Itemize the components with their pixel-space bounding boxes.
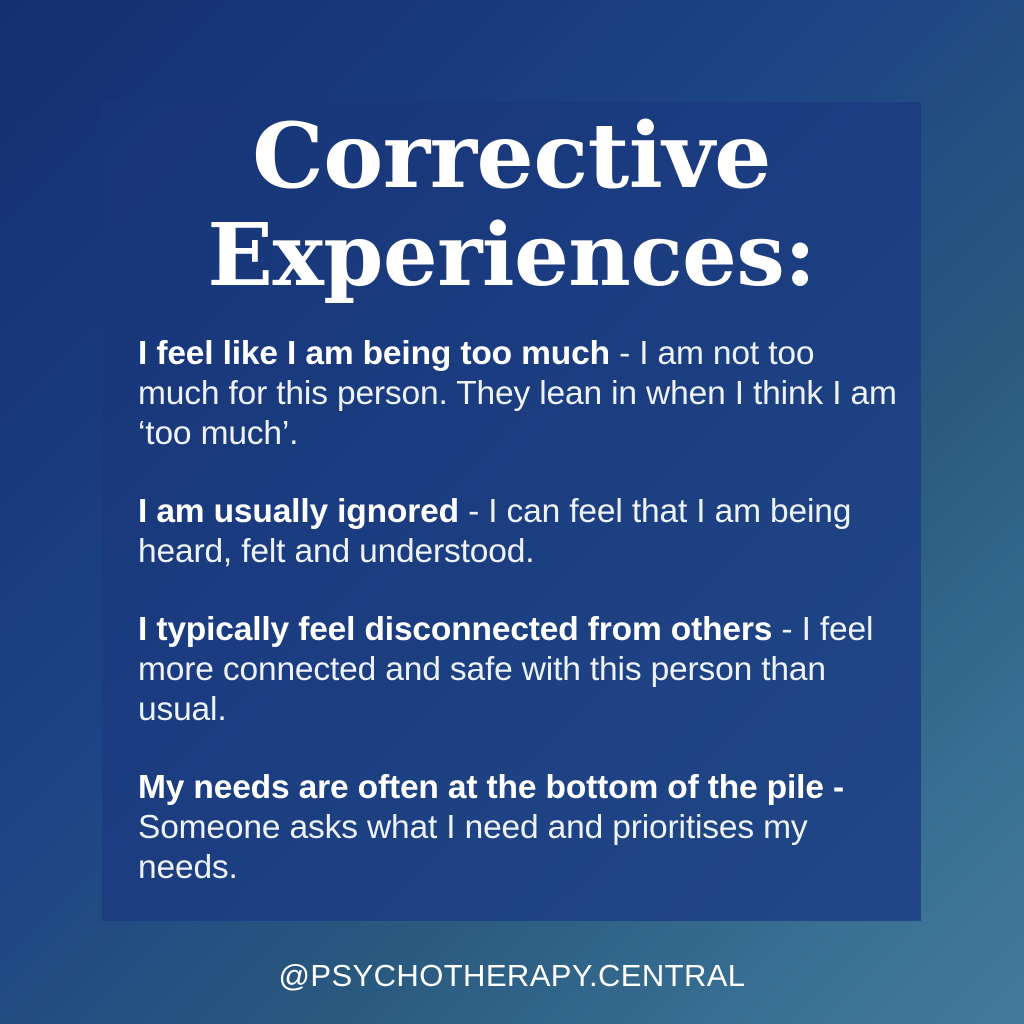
entry-item-1: I feel like I am being too much - I am n… [138, 334, 898, 454]
content-card: Corrective Experiences: I feel like I am… [102, 102, 921, 921]
account-handle: @PSYCHOTHERAPY.CENTRAL [0, 956, 1024, 996]
poster-canvas: Corrective Experiences: I feel like I am… [0, 0, 1024, 1024]
entry-rest-4: Someone asks what I need and prioritises… [138, 809, 807, 886]
entry-lead-1: I feel like I am being too much [138, 335, 610, 372]
entry-lead-2: I am usually ignored [138, 493, 459, 530]
entry-lead-4: My needs are often at the bottom of the … [138, 769, 844, 806]
title-line-1: Corrective [128, 106, 895, 206]
entry-item-3: I typically feel disconnected from other… [138, 610, 898, 730]
entry-lead-3: I typically feel disconnected from other… [138, 611, 772, 648]
title-line-2: Experiences: [128, 206, 895, 306]
entry-item-4: My needs are often at the bottom of the … [138, 768, 898, 888]
entries-list: I feel like I am being too much - I am n… [138, 334, 898, 888]
entry-item-2: I am usually ignored - I can feel that I… [138, 492, 898, 572]
poster-title: Corrective Experiences: [102, 106, 921, 306]
